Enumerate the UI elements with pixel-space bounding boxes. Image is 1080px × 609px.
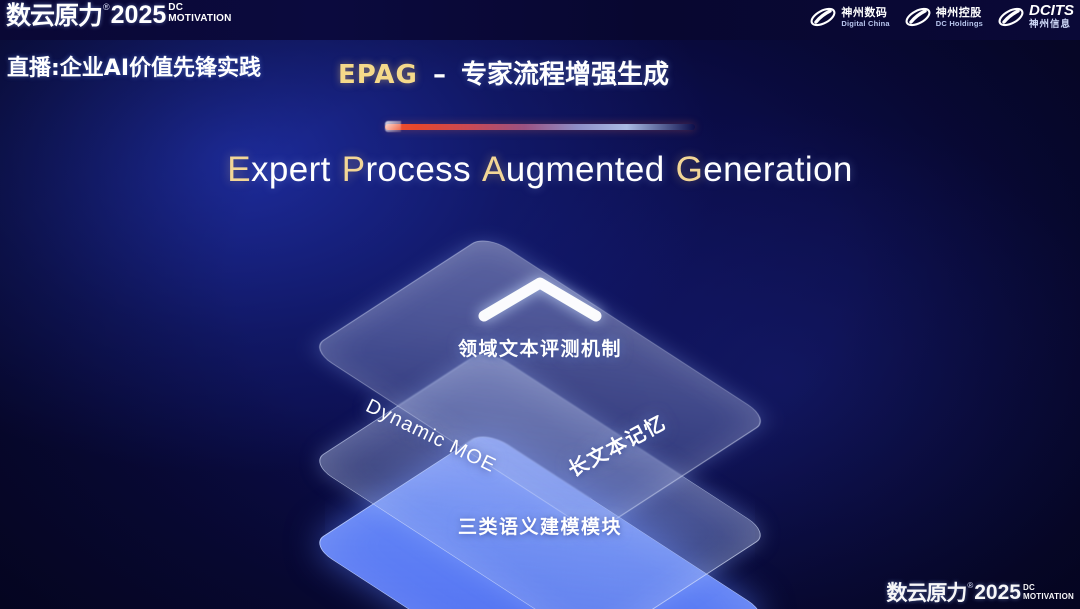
partner-logo-dc-holdings: 神州控股 DC Holdings xyxy=(904,4,983,30)
heading-chinese: 专家流程增强生成 xyxy=(461,60,669,90)
word-initial: G xyxy=(676,150,704,189)
swoosh-icon xyxy=(809,4,837,30)
heading-abbreviation: EPAG xyxy=(338,60,418,90)
live-stream-title: 直播:企业AI价值先锋实践 xyxy=(7,50,261,82)
word-remainder: rocess xyxy=(366,150,472,189)
partner-logo-group: 神州数码 Digital China 神州控股 DC Holdings xyxy=(809,3,1074,30)
swoosh-icon xyxy=(997,4,1025,30)
word-remainder: xpert xyxy=(251,150,331,189)
word-initial: P xyxy=(342,150,366,189)
brand-name-cn: 数云原力 xyxy=(6,1,102,31)
presentation-slide: 数云原力 ® 2025 DC MOTIVATION 直播:企业AI价值先锋实践 … xyxy=(0,0,1080,609)
slide-heading: EPAG – 专家流程增强生成 xyxy=(338,54,669,91)
word-initial: A xyxy=(482,150,506,189)
layer-top-label: 领域文本评测机制 xyxy=(458,334,622,361)
partner-name-cn: 神州控股 xyxy=(936,6,983,19)
partner-name-en: Digital China xyxy=(841,19,889,28)
layer-stack-diagram: 领域文本评测机制 Dynamic MOE 长文本记忆 三类语义建模模块 xyxy=(0,0,1080,609)
partner-logo-dcits: DCITS 神州信息 xyxy=(997,3,1074,30)
chevron-up-icon xyxy=(474,272,606,331)
watermark-registered-mark: ® xyxy=(967,581,973,591)
registered-mark: ® xyxy=(103,1,110,13)
word-initial: E xyxy=(227,150,251,189)
partner-name-cn: 神州数码 xyxy=(841,6,889,19)
partner-name-en: DCITS xyxy=(1029,3,1074,19)
partner-name-en: DC Holdings xyxy=(936,19,983,28)
layer-top xyxy=(374,218,706,550)
layer-bottom-label: 三类语义建模模块 xyxy=(458,512,622,539)
watermark-name-cn: 数云原力 xyxy=(886,581,966,606)
partner-text: DCITS 神州信息 xyxy=(1029,3,1074,30)
brand-dc-line2: MOTIVATION xyxy=(168,13,231,24)
watermark-dc-line2: MOTIVATION xyxy=(1023,592,1074,601)
brand-year: 2025 xyxy=(111,1,167,30)
brand-dc-line1: DC xyxy=(168,3,231,13)
heading-dash: – xyxy=(433,60,446,90)
word-remainder: ugmented xyxy=(506,150,665,189)
swoosh-icon xyxy=(904,4,932,30)
brand-dc-motivation: DC MOTIVATION xyxy=(168,3,231,24)
watermark-year: 2025 xyxy=(974,581,1021,605)
partner-logo-digital-china: 神州数码 Digital China xyxy=(809,4,889,30)
gradient-divider xyxy=(385,124,695,130)
partner-text: 神州控股 DC Holdings xyxy=(936,6,983,28)
divider-highlight xyxy=(385,121,401,132)
partner-name-cn: 神州信息 xyxy=(1029,19,1074,30)
watermark-dc-line1: DC xyxy=(1023,583,1074,592)
english-title: ExpertProcessAugmentedGeneration xyxy=(0,150,1080,190)
watermark-dc-motivation: DC MOTIVATION xyxy=(1023,583,1074,601)
brand-logo: 数云原力 ® 2025 DC MOTIVATION xyxy=(6,1,232,31)
footer-watermark-logo: 数云原力 ® 2025 DC MOTIVATION xyxy=(886,581,1074,606)
word-remainder: eneration xyxy=(703,150,853,189)
partner-text: 神州数码 Digital China xyxy=(841,6,889,28)
